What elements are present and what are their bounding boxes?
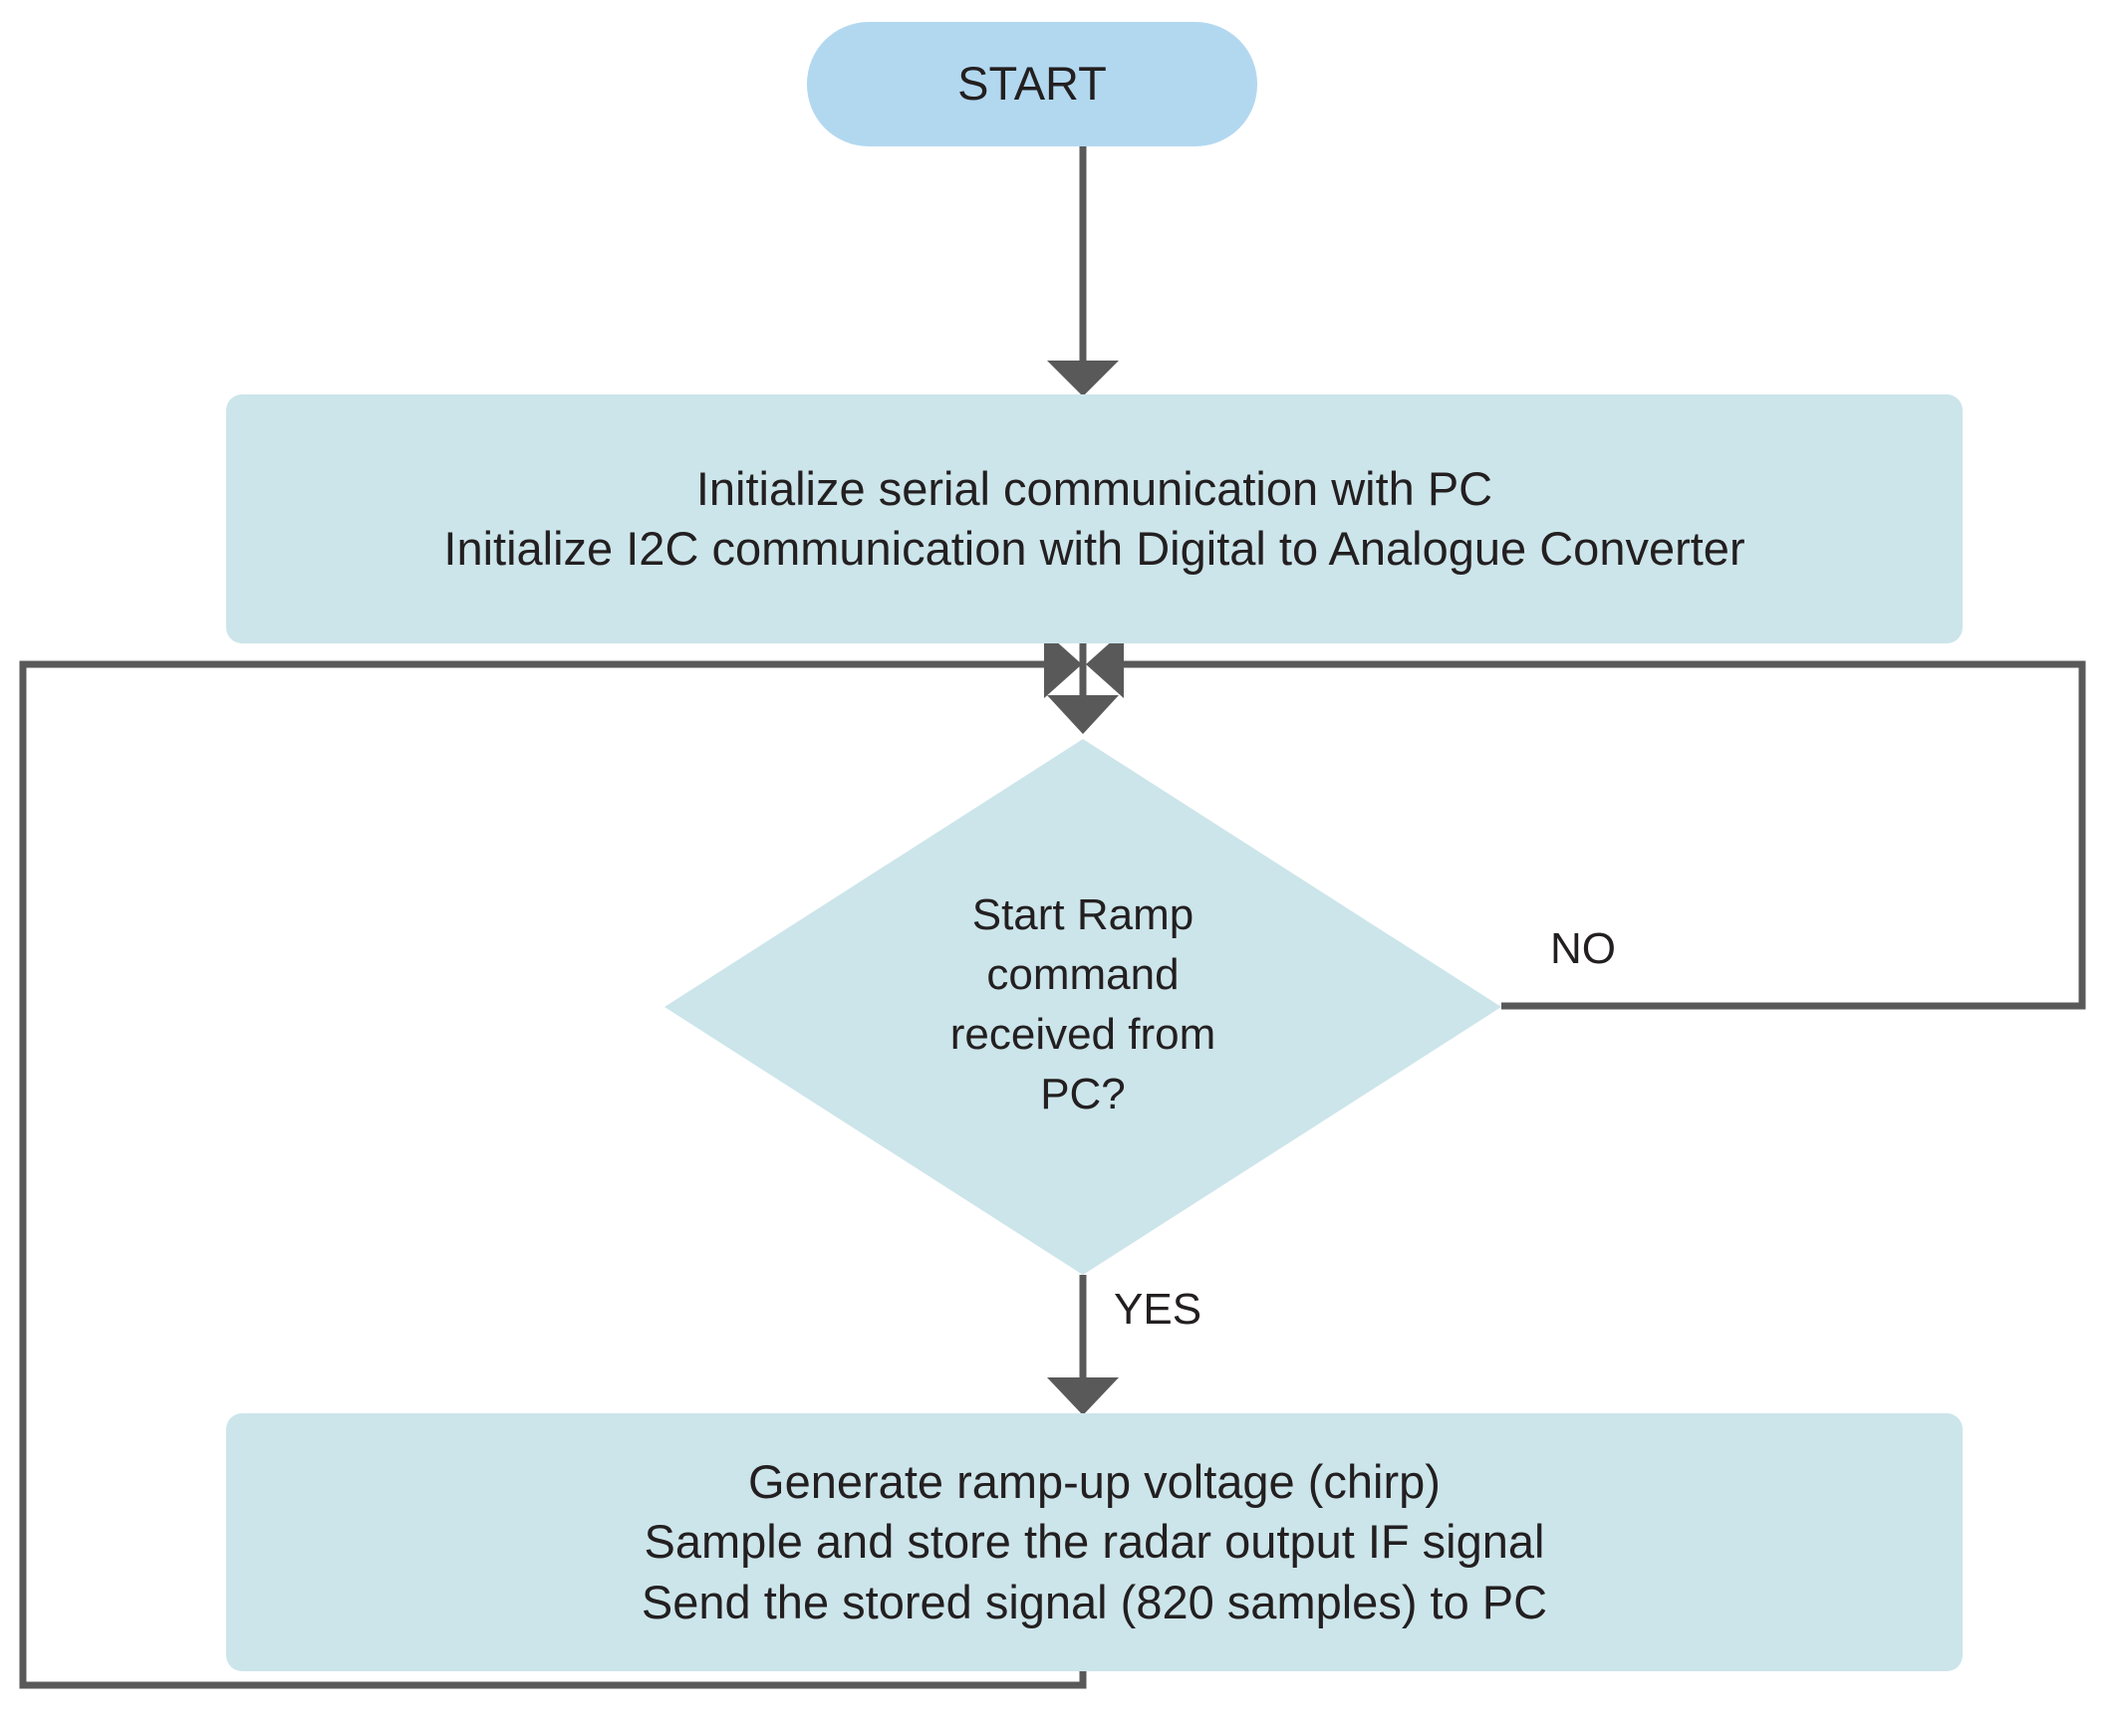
- edge-label-yes: YES: [1114, 1285, 1201, 1335]
- flowchart-canvas: START Initialize serial communication wi…: [0, 0, 2121, 1736]
- node-initialize-communications[interactable]: Initialize serial communication with PC …: [226, 394, 1963, 643]
- edge-start-to-init: [1047, 146, 1119, 396]
- node-start[interactable]: START: [807, 22, 1257, 146]
- edge-decision-yes: [1047, 1275, 1119, 1415]
- node-generate-ramp-and-send[interactable]: Generate ramp-up voltage (chirp) Sample …: [226, 1413, 1963, 1671]
- edge-label-no: NO: [1550, 924, 1616, 974]
